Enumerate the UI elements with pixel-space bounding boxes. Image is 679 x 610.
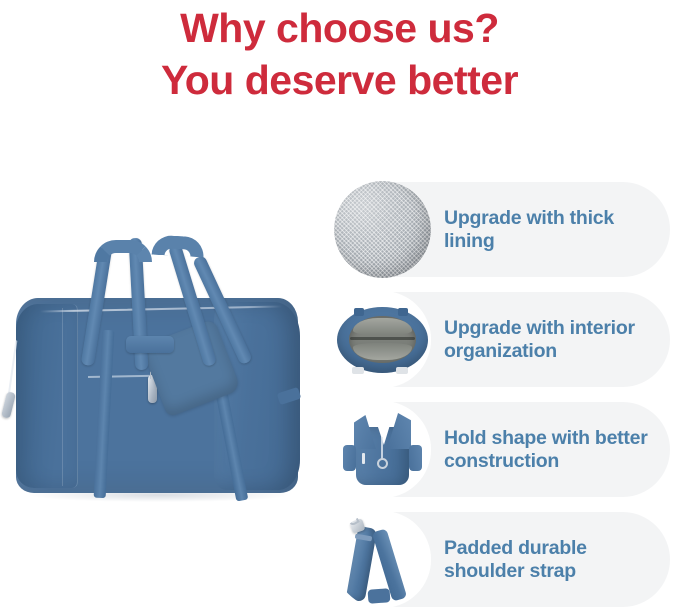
feature-card-shoulder-strap[interactable]: Padded durable shoulder strap: [336, 512, 670, 607]
strap-fold-joint: [368, 588, 391, 604]
page-title: Why choose us? You deserve better: [0, 2, 679, 106]
bag-foot-right: [396, 367, 408, 374]
standing-bag-side-handle-right: [409, 445, 422, 471]
feature-label-interior-organization: Upgrade with interior organization: [444, 317, 658, 363]
feature-card-interior-organization[interactable]: Upgrade with interior organization: [336, 292, 670, 387]
headline-line-1: Why choose us?: [0, 2, 679, 54]
bag-handle-keeper: [126, 336, 174, 353]
bag-side-zipper-pull-icon: [1, 391, 16, 418]
interior-center-spine: [350, 337, 415, 340]
feature-label-thick-lining: Upgrade with thick lining: [444, 207, 658, 253]
headline-line-2: You deserve better: [0, 54, 679, 106]
interior-organization-media: [334, 291, 431, 388]
bag-left-end-cap: [16, 304, 78, 488]
interior-divider-top: [353, 318, 412, 335]
bag-standing-icon: [334, 401, 431, 498]
standing-bag-zipper-ring-icon: [377, 458, 388, 469]
feature-label-shoulder-strap: Padded durable shoulder strap: [444, 537, 658, 583]
feature-card-hold-shape[interactable]: Hold shape with better construction: [336, 402, 670, 497]
padded-strap-icon: [334, 511, 431, 608]
product-image-duffel-bag: [2, 212, 324, 537]
bag-handle-loop-right: [152, 235, 205, 258]
product-feature-infographic: Why choose us? You deserve better: [0, 0, 679, 610]
standing-bag-tag: [362, 453, 365, 464]
feature-card-thick-lining[interactable]: Upgrade with thick lining: [336, 182, 670, 277]
hold-shape-media: [334, 401, 431, 498]
standing-bag-zipper: [381, 437, 383, 459]
feature-card-list: Upgrade with thick lining Upgrade with i…: [336, 182, 670, 607]
feature-label-hold-shape: Hold shape with better construction: [444, 427, 658, 473]
bag-foot-left: [352, 367, 364, 374]
bag-handle-loop-left: [94, 240, 152, 262]
bag-front-seam: [62, 308, 63, 486]
open-bag-top-down-icon: [334, 291, 431, 388]
thick-lining-media: [334, 181, 431, 278]
standing-bag-side-handle-left: [343, 445, 356, 471]
mesh-lining-icon: [334, 181, 431, 278]
shoulder-strap-media: [334, 511, 431, 608]
bag-handle-stub-right: [398, 308, 408, 316]
bag-handle-stub-left: [354, 308, 364, 316]
